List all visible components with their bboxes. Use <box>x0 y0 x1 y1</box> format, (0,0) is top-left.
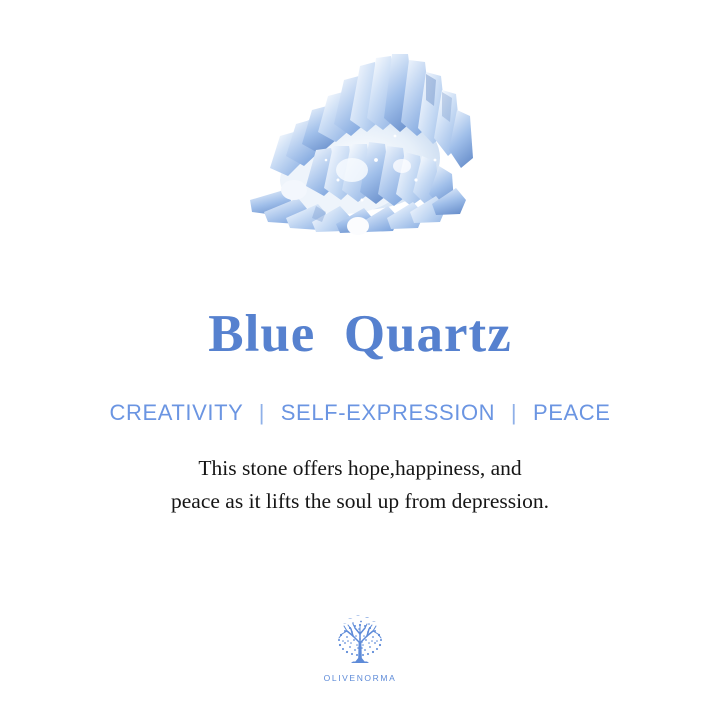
brand-name: OLIVENORMA <box>324 673 397 683</box>
keyword-creativity: CREATIVITY <box>109 400 243 425</box>
stone-description: This stone offers hope,happiness, and pe… <box>60 452 660 518</box>
page-title: Blue Quartz <box>0 305 720 363</box>
tree-of-life-icon <box>328 612 392 670</box>
brand-logo: OLIVENORMA <box>0 612 720 683</box>
keyword-peace: PEACE <box>533 400 611 425</box>
description-line-1: This stone offers hope,happiness, and <box>60 452 660 485</box>
keyword-separator: | <box>250 400 274 425</box>
description-line-2: peace as it lifts the soul up from depre… <box>60 485 660 518</box>
keyword-separator: | <box>502 400 526 425</box>
keyword-list: CREATIVITY | SELF-EXPRESSION | PEACE <box>0 398 720 428</box>
stone-info-card: Blue Quartz CREATIVITY | SELF-EXPRESSION… <box>0 0 720 720</box>
keyword-self-expression: SELF-EXPRESSION <box>281 400 495 425</box>
crystal-image-container <box>0 40 720 240</box>
blue-quartz-crystal-cluster-icon <box>230 40 490 235</box>
